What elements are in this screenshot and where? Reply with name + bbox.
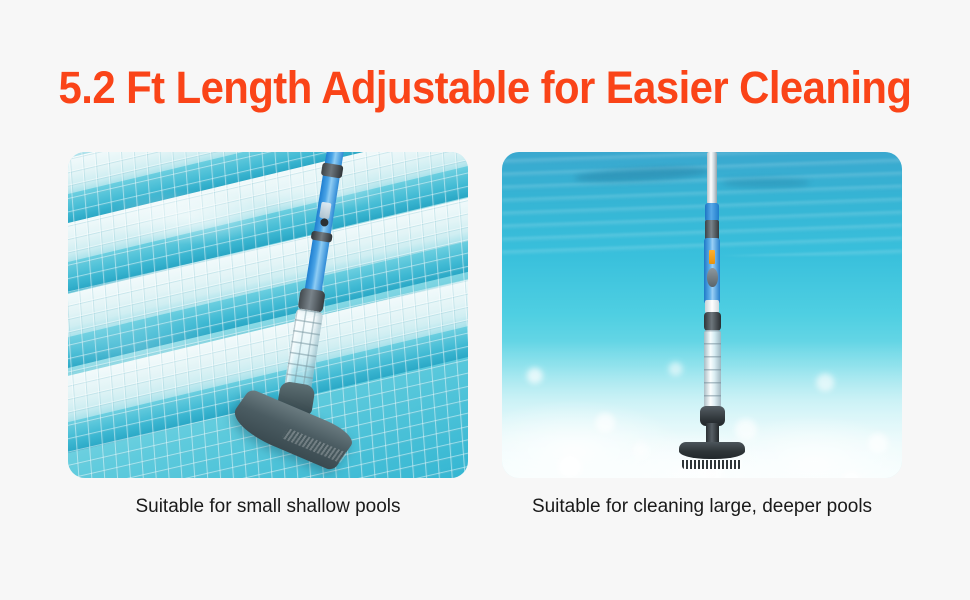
- vacuum-head: [679, 442, 745, 459]
- vacuum-pole-label: [709, 250, 715, 265]
- caption-shallow-pool: Suitable for small shallow pools: [68, 494, 468, 520]
- panel-shallow-pool: [68, 152, 468, 478]
- product-feature-banner: 5.2 Ft Length Adjustable for Easier Clea…: [0, 0, 970, 600]
- vacuum-adjust-knob: [707, 268, 718, 288]
- vacuum-pole-silver: [707, 152, 717, 204]
- shallow-pool-photo: [68, 152, 468, 478]
- water-shadow-streak: [722, 178, 810, 188]
- vacuum-clamp: [704, 312, 721, 332]
- panel-captions: Suitable for small shallow pools Suitabl…: [68, 494, 902, 520]
- image-panels: [68, 152, 902, 478]
- vacuum-head-bristles: [682, 460, 742, 469]
- panel-deep-pool: [502, 152, 902, 478]
- vacuum-filter-tube: [704, 330, 721, 408]
- vacuum-filter-tube: [284, 309, 323, 393]
- caption-deep-pool: Suitable for cleaning large, deeper pool…: [502, 494, 902, 520]
- pool-vacuum-deep: [688, 152, 734, 478]
- headline-title: 5.2 Ft Length Adjustable for Easier Clea…: [34, 62, 936, 114]
- vacuum-pole-collar: [705, 220, 719, 240]
- deep-pool-photo: [502, 152, 902, 478]
- vacuum-pole-blue-upper: [705, 203, 719, 223]
